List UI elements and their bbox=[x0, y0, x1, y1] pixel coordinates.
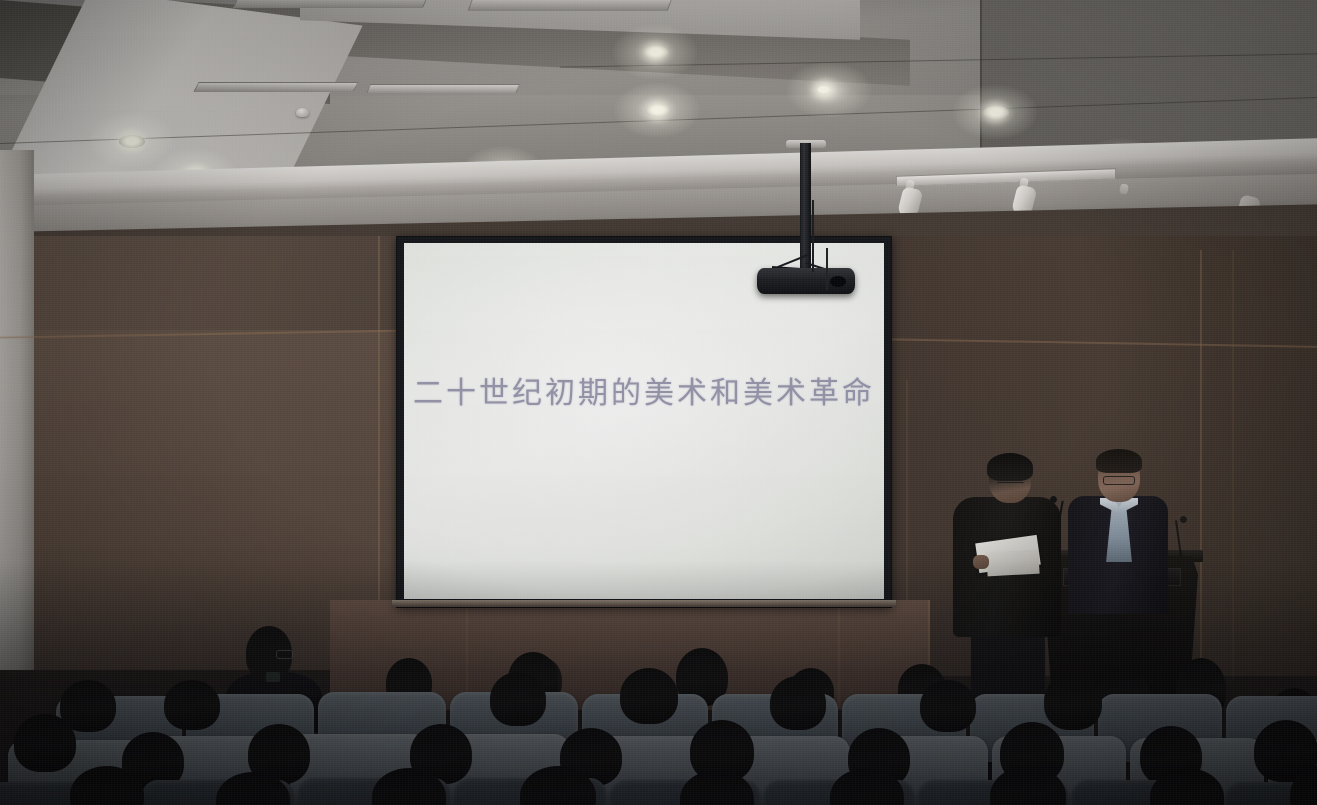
downlight-core bbox=[650, 49, 661, 56]
ceiling-air-vent bbox=[193, 82, 358, 92]
downlight-core bbox=[990, 109, 1001, 116]
projector-mount-pole bbox=[800, 143, 811, 280]
slide-title-text: 二十世纪初期的美术和美术革命 bbox=[404, 368, 884, 412]
audience-member-head bbox=[920, 680, 976, 732]
presenter-hand bbox=[973, 555, 989, 569]
lecture-hall-photograph: 二十世纪初期的美术和美术革命 美术学院 bbox=[0, 0, 1317, 805]
downlight-core bbox=[126, 138, 137, 145]
ceiling-air-vent bbox=[233, 0, 429, 8]
audience-member-head bbox=[490, 672, 546, 726]
audience-member-head bbox=[14, 714, 76, 772]
downlight-core bbox=[818, 86, 829, 93]
ceiling-air-vent bbox=[366, 84, 520, 94]
projection-screen-surface: 二十世纪初期的美术和美术革命 bbox=[404, 243, 884, 599]
presenter-hair bbox=[1096, 449, 1142, 473]
projector-cable bbox=[826, 248, 848, 290]
projection-screen-bottom-bar bbox=[392, 600, 896, 607]
printed-papers bbox=[986, 550, 1039, 577]
wall-trim-vertical bbox=[1232, 250, 1234, 680]
smoke-detector-icon bbox=[296, 108, 309, 117]
audience-member-head bbox=[620, 668, 678, 724]
audience-seating-area bbox=[0, 636, 1317, 805]
downlight-core bbox=[652, 107, 663, 114]
audience-member-head bbox=[770, 676, 826, 730]
microphone-head-icon bbox=[1180, 516, 1187, 523]
audience-member-head bbox=[1044, 672, 1102, 730]
audience-member-head bbox=[164, 680, 220, 730]
presenter-hair bbox=[987, 453, 1033, 481]
eyeglasses-icon bbox=[1103, 476, 1135, 485]
eyeglasses-icon bbox=[997, 482, 1024, 488]
ceiling-air-vent bbox=[468, 0, 673, 11]
wall-trim-vertical bbox=[1200, 250, 1202, 680]
wall-far-left-column bbox=[0, 150, 34, 670]
